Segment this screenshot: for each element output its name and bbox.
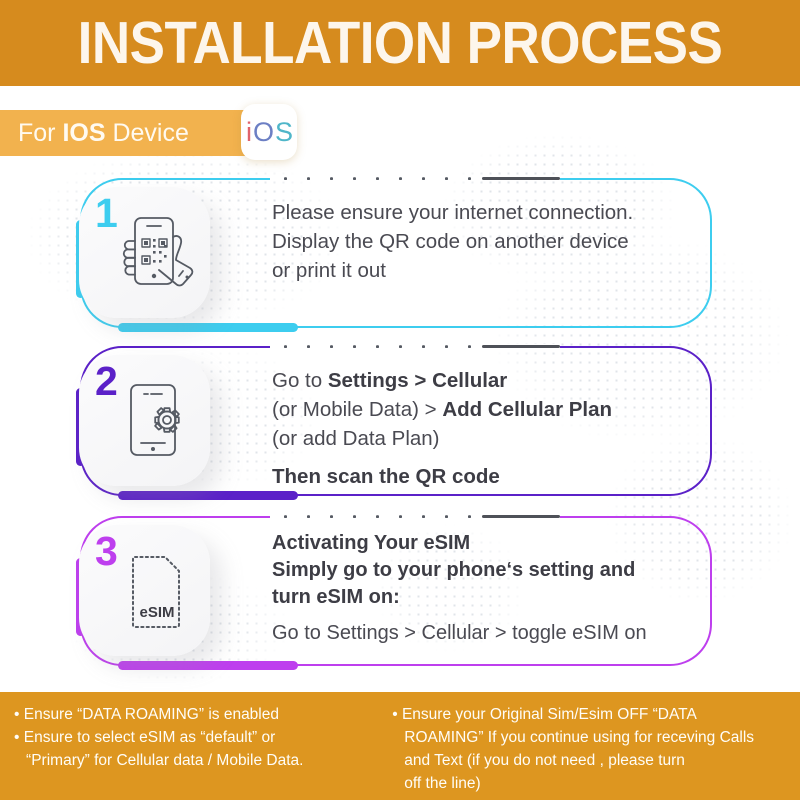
dotted-segment [270, 345, 478, 348]
step-2-line-4: Then scan the QR code [272, 462, 698, 491]
step-3-top-dotted-rule [270, 514, 560, 519]
step-2-top-dotted-rule [270, 344, 560, 349]
ios-icon: i O S [244, 117, 294, 147]
step-1-number: 1 [95, 193, 118, 234]
step-3-line-1: Activating Your eSIM [272, 530, 698, 557]
step-3-text: Activating Your eSIM Simply go to your p… [272, 530, 698, 647]
dotted-segment [270, 515, 478, 518]
footer-notes: • Ensure “DATA ROAMING” is enabled • Ens… [0, 692, 800, 800]
step-2-sep-1: > [409, 369, 432, 392]
ios-logo-badge: i O S [241, 104, 297, 160]
step-2-bottom-accent-bar [118, 491, 298, 500]
footer-right-item-1: • Ensure your Original Sim/Esim OFF “DAT… [392, 704, 800, 726]
step-1-line-1: Please ensure your internet connection. [272, 198, 698, 227]
footer-left-item-3: “Primary” for Cellular data / Mobile Dat… [14, 750, 380, 772]
platform-suffix: Device [106, 119, 189, 147]
platform-prefix: For [18, 119, 62, 147]
footer-right-item-3: and Text (if you do not need , please tu… [392, 750, 800, 772]
step-1-line-2: Display the QR code on another device [272, 227, 698, 256]
step-1: 1 [80, 178, 712, 328]
esim-label: eSIM [139, 604, 174, 621]
footer-left-item-1: • Ensure “DATA ROAMING” is enabled [14, 704, 380, 726]
step-3-spacer [272, 611, 698, 620]
step-3-icon-tile: 3 eSIM [79, 525, 210, 656]
installation-process-infographic: INSTALLATION PROCESS For IOS Device i O … [0, 0, 800, 800]
svg-text:O: O [253, 117, 274, 147]
step-2-line-2: (or Mobile Data) > Add Cellular Plan [272, 395, 698, 424]
step-2-settings: Settings [328, 369, 409, 392]
platform-strong: IOS [62, 119, 105, 147]
footer-right-item-2: ROAMING” If you continue using for recev… [392, 727, 800, 749]
platform-banner: For IOS Device [0, 110, 249, 156]
step-3-line-4: Go to Settings > Cellular > toggle eSIM … [272, 620, 698, 647]
step-2: 2 [80, 346, 712, 496]
step-2-add-cellular-plan: Add Cellular Plan [442, 398, 612, 421]
step-2-line-3: (or add Data Plan) [272, 424, 698, 453]
footer-left-column: • Ensure “DATA ROAMING” is enabled • Ens… [0, 704, 380, 800]
phone-gear-icon [117, 379, 203, 463]
step-3-bottom-accent-bar [118, 661, 298, 670]
dotted-segment [270, 177, 478, 180]
page-title: INSTALLATION PROCESS [78, 13, 723, 72]
step-2-line-1: Go to Settings > Cellular [272, 366, 698, 395]
step-2-text: Go to Settings > Cellular (or Mobile Dat… [272, 366, 698, 491]
solid-segment [482, 515, 560, 518]
footer-left-item-2: • Ensure to select eSIM as “default” or [14, 727, 380, 749]
esim-card-icon: eSIM [117, 549, 203, 633]
step-1-top-dotted-rule [270, 176, 560, 181]
footer-right-item-4: off the line) [392, 773, 800, 795]
step-3-line-2: Simply go to your phone‘s setting and [272, 557, 698, 584]
step-2-icon-tile: 2 [79, 355, 210, 486]
step-1-line-3: or print it out [272, 256, 698, 285]
svg-text:i: i [246, 117, 252, 147]
step-1-bottom-accent-bar [118, 323, 298, 332]
step-3-line-3: turn eSIM on: [272, 584, 698, 611]
platform-banner-label: For IOS Device [18, 121, 189, 146]
step-2-number: 2 [95, 361, 118, 402]
phone-qr-scan-icon [117, 211, 203, 295]
step-3: 3 eSIM Activating Your eSIM Simply go to… [80, 516, 712, 666]
step-2-line1-prefix: Go to [272, 369, 328, 392]
step-1-icon-tile: 1 [79, 187, 210, 318]
footer-right-column: • Ensure your Original Sim/Esim OFF “DAT… [380, 704, 800, 800]
step-1-text: Please ensure your internet connection. … [272, 198, 698, 285]
solid-segment [482, 177, 560, 180]
solid-segment [482, 345, 560, 348]
header-bar: INSTALLATION PROCESS [0, 0, 800, 86]
svg-text:S: S [275, 117, 293, 147]
step-3-number: 3 [95, 531, 118, 572]
step-2-cellular: Cellular [432, 369, 507, 392]
step-2-line2-prefix: (or Mobile Data) > [272, 398, 442, 421]
step-2-spacer [272, 453, 698, 462]
